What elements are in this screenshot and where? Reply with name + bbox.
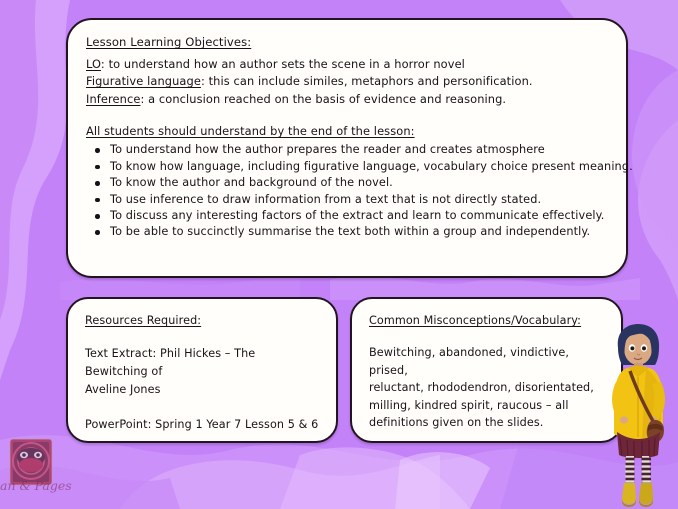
objective-rest-3: : a conclusion reached on the basis of e… <box>140 92 506 106</box>
objective-lead-1: LO <box>86 57 101 71</box>
objectives-subheading: All students should understand by the en… <box>86 123 608 140</box>
resources-line-2: Aveline Jones <box>85 381 320 399</box>
resources-line-1: Text Extract: Phil Hickes – The Bewitchi… <box>85 345 320 381</box>
objectives-bullet-list: To understand how the author prepares th… <box>86 142 608 240</box>
list-item: To discuss any interesting factors of th… <box>86 208 608 224</box>
objective-line-3: Inference: a conclusion reached on the b… <box>86 91 608 109</box>
list-item: To be able to succinctly summarise the t… <box>86 224 608 240</box>
misconceptions-line-4: definitions given on the slides. <box>369 414 605 432</box>
objective-line-2: Figurative language: this can include si… <box>86 73 608 91</box>
objective-rest-1: : to understand how an author sets the s… <box>101 57 465 71</box>
resources-required-panel: Resources Required: Text Extract: Phil H… <box>66 297 338 443</box>
lesson-objectives-panel: Lesson Learning Objectives: LO: to under… <box>66 18 628 278</box>
objective-lead-3: Inference <box>86 92 140 106</box>
misconceptions-line-2: reluctant, rhododendron, disorientated, <box>369 379 605 397</box>
objective-rest-2: : this can include similes, metaphors an… <box>201 74 533 88</box>
publisher-logo-icon <box>2 437 76 507</box>
list-item: To understand how the author prepares th… <box>86 142 608 158</box>
misconceptions-line-3: milling, kindred spirit, raucous – all <box>369 397 605 415</box>
objectives-title: Lesson Learning Objectives: <box>86 34 608 52</box>
misconceptions-line-1: Bewitching, abandoned, vindictive, prise… <box>369 344 605 379</box>
list-item: To know how language, including figurati… <box>86 159 608 175</box>
resources-body: Text Extract: Phil Hickes – The Bewitchi… <box>85 345 320 434</box>
misconceptions-title: Common Misconceptions/Vocabulary: <box>369 313 605 329</box>
resources-line-3: PowerPoint: Spring 1 Year 7 Lesson 5 & 6 <box>85 416 320 434</box>
objective-line-1: LO: to understand how an author sets the… <box>86 56 608 74</box>
list-item: To use inference to draw information fro… <box>86 192 608 208</box>
objective-lead-2: Figurative language <box>86 74 201 88</box>
resources-title: Resources Required: <box>85 313 320 329</box>
objectives-spacer <box>86 108 608 123</box>
logo-mark <box>2 437 76 507</box>
list-item: To know the author and background of the… <box>86 175 608 191</box>
misconceptions-body: Bewitching, abandoned, vindictive, prise… <box>369 344 605 432</box>
coraline-illustration <box>600 322 676 509</box>
common-misconceptions-panel: Common Misconceptions/Vocabulary: Bewitc… <box>350 297 623 443</box>
publisher-watermark-text: an & Pages <box>0 478 90 493</box>
coraline-figure <box>600 322 676 509</box>
